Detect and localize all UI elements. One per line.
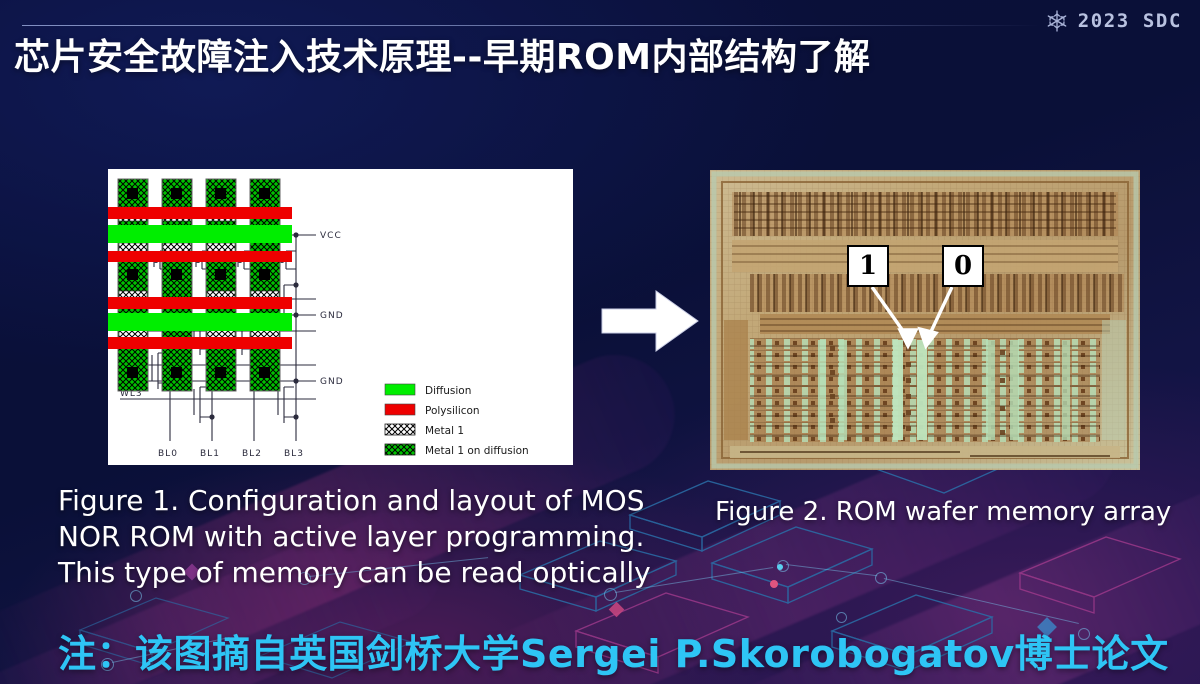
figure2-caption: Figure 2. ROM wafer memory array [715, 497, 1185, 527]
header-divider [22, 25, 1040, 26]
callout-arrows [710, 170, 1140, 470]
label-gnd-2: GND [320, 377, 344, 387]
right-arrow-icon [600, 285, 700, 357]
label-bl0: BL0 [158, 449, 178, 459]
label-bl1: BL1 [200, 449, 220, 459]
legend-label-1: Polysilicon [425, 405, 480, 417]
legend-label-3: Metal 1 on diffusion [425, 445, 529, 457]
legend-label-0: Diffusion [425, 385, 471, 397]
source-footnote: 注：该图摘自英国剑桥大学Sergei P.Skorobogatov博士论文 [58, 623, 1169, 678]
label-gnd-1: GND [320, 311, 344, 321]
figure1-panel: VCC GND GND WL0 WL1 WL2 WL3 BL0 BL1 BL2 … [108, 169, 573, 465]
label-bl2: BL2 [242, 449, 262, 459]
legend-label-2: Metal 1 [425, 425, 464, 437]
callout-bit-1: 1 [847, 245, 889, 287]
figure2-die-photo: 1 0 [710, 170, 1140, 470]
figure1-graphic: VCC GND GND WL0 WL1 WL2 WL3 BL0 BL1 BL2 … [108, 169, 573, 465]
figure1-caption: Figure 1. Configuration and layout of MO… [58, 483, 678, 590]
brand-text: 2023 SDC [1078, 10, 1182, 32]
label-bl3: BL3 [284, 449, 304, 459]
slide-root: 2023 SDC 芯片安全故障注入技术原理--早期ROM内部结构了解 [0, 0, 1200, 684]
label-vcc: VCC [320, 231, 342, 241]
page-title: 芯片安全故障注入技术原理--早期ROM内部结构了解 [14, 28, 1014, 80]
snowflake-icon [1045, 9, 1069, 33]
brand-badge: 2023 SDC [1045, 9, 1182, 33]
callout-bit-0: 0 [942, 245, 984, 287]
